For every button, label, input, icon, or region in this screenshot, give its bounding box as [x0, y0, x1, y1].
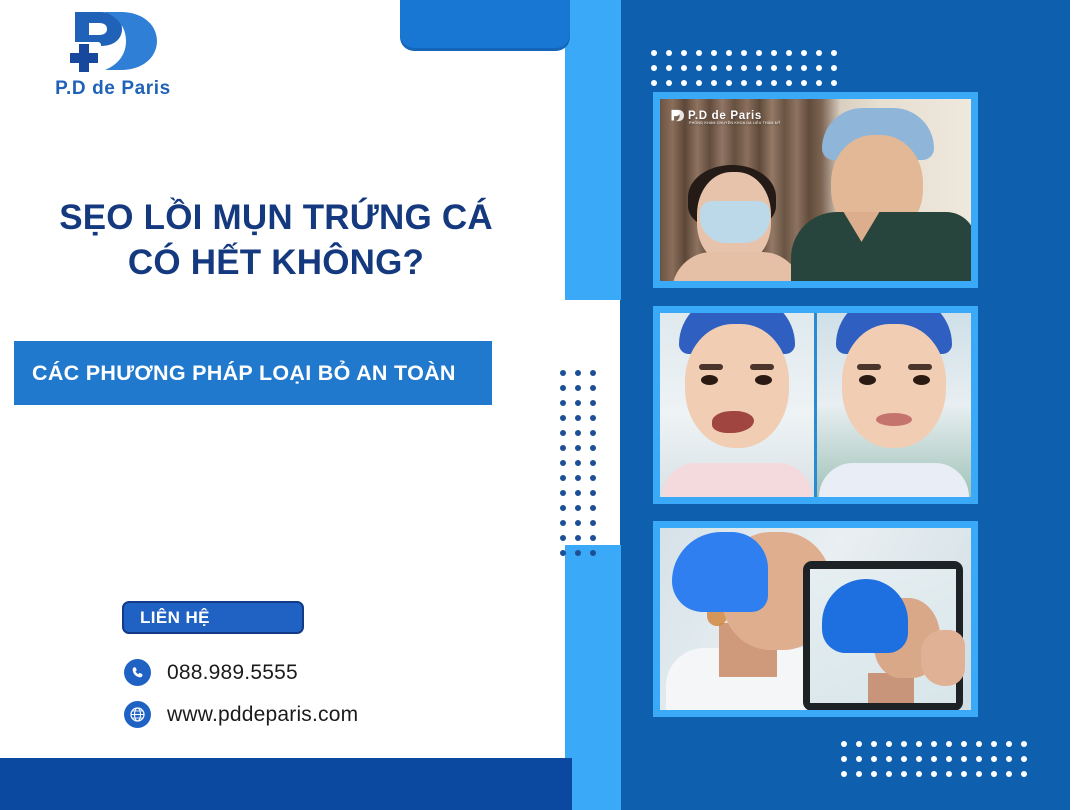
dot [590, 475, 596, 481]
photo1-doctor-scrubs [791, 212, 971, 281]
dot [856, 741, 862, 747]
dot [575, 520, 581, 526]
photo2-after-brow-right [908, 364, 932, 370]
dot [946, 741, 952, 747]
dot [931, 756, 937, 762]
dot [961, 741, 967, 747]
dot [801, 50, 807, 56]
dot [1006, 756, 1012, 762]
dot [726, 65, 732, 71]
dot [575, 370, 581, 376]
globe-icon [124, 701, 151, 728]
dot [886, 771, 892, 777]
photo2-before-lip-lesion [712, 411, 754, 433]
photo-card-before-after-face[interactable] [653, 306, 978, 504]
dot [590, 370, 596, 376]
page-title-line-2: CÓ HẾT KHÔNG? [14, 241, 538, 286]
dot [886, 756, 892, 762]
dot [916, 741, 922, 747]
photo-image-consultation-tablet [660, 528, 971, 710]
photo2-after-eye-right [913, 375, 930, 385]
phone-icon [124, 659, 151, 686]
dot [801, 65, 807, 71]
photo1-watermark: P.D de Paris PHÒNG KHÁM CHUYÊN KHOA DA L… [669, 108, 762, 123]
dot [560, 445, 566, 451]
photo1-watermark-subtext: PHÒNG KHÁM CHUYÊN KHOA DA LIỄU THẨM MỸ [689, 121, 781, 125]
footer-bar [0, 758, 572, 810]
brand-logo-text: P.D de Paris [18, 78, 208, 100]
dot [771, 80, 777, 86]
dot [575, 475, 581, 481]
dot [560, 475, 566, 481]
dot [590, 520, 596, 526]
dot [841, 756, 847, 762]
rounded-blue-accent [400, 0, 570, 48]
dot [560, 415, 566, 421]
pd-monogram-icon [18, 6, 208, 80]
dot [575, 505, 581, 511]
dot [1006, 771, 1012, 777]
dot [681, 65, 687, 71]
dot [946, 771, 952, 777]
photo1-watermark-text: P.D de Paris [688, 110, 762, 122]
dot [871, 771, 877, 777]
photo2-after-half [817, 313, 971, 497]
dot [575, 445, 581, 451]
dot [651, 80, 657, 86]
dot [696, 80, 702, 86]
dot [916, 771, 922, 777]
dot [1021, 756, 1027, 762]
dot [841, 771, 847, 777]
dot [575, 460, 581, 466]
page-title-line-1: SẸO LỒI MỤN TRỨNG CÁ [14, 196, 538, 241]
photo2-after-eye-left [859, 375, 876, 385]
dot [651, 50, 657, 56]
dot [575, 415, 581, 421]
dot [681, 80, 687, 86]
dot [590, 535, 596, 541]
dot [946, 756, 952, 762]
page-title: SẸO LỒI MỤN TRỨNG CÁ CÓ HẾT KHÔNG? [14, 196, 538, 286]
dot [901, 771, 907, 777]
dot [786, 50, 792, 56]
photo-card-doctor-and-patient[interactable]: P.D de Paris PHÒNG KHÁM CHUYÊN KHOA DA L… [653, 92, 978, 288]
dot [560, 550, 566, 556]
dot [856, 771, 862, 777]
subtitle-text: CÁC PHƯƠNG PHÁP LOẠI BỎ AN TOÀN [32, 361, 456, 386]
dot [560, 370, 566, 376]
dot [666, 65, 672, 71]
dot [991, 771, 997, 777]
dot [786, 80, 792, 86]
dot [560, 505, 566, 511]
dot [816, 50, 822, 56]
dot [560, 490, 566, 496]
photo-image-doctor-and-patient: P.D de Paris PHÒNG KHÁM CHUYÊN KHOA DA L… [660, 99, 971, 281]
dot [816, 80, 822, 86]
dot [831, 50, 837, 56]
dot [696, 50, 702, 56]
photo2-before-brow-right [750, 364, 774, 370]
dot [575, 550, 581, 556]
dot [726, 80, 732, 86]
dot [590, 385, 596, 391]
dot [871, 756, 877, 762]
dot [726, 50, 732, 56]
photo2-before-brow-left [699, 364, 723, 370]
dot [1006, 741, 1012, 747]
light-blue-band-bottom [565, 545, 621, 810]
dot [711, 80, 717, 86]
dot [590, 490, 596, 496]
photo3-screen-surgical-cap [822, 579, 908, 653]
dot [666, 80, 672, 86]
light-blue-band-top [565, 0, 621, 300]
dot [886, 741, 892, 747]
photo-card-consultation-tablet[interactable] [653, 521, 978, 717]
dot [901, 756, 907, 762]
dot [841, 741, 847, 747]
dot [560, 400, 566, 406]
dot [681, 50, 687, 56]
brand-logo: P.D de Paris [18, 6, 208, 100]
dot [831, 80, 837, 86]
dot [901, 741, 907, 747]
dot [575, 400, 581, 406]
dot [651, 65, 657, 71]
dot [575, 385, 581, 391]
photo2-after-face [842, 324, 946, 448]
photo2-after-lips [876, 413, 912, 426]
dot [575, 535, 581, 541]
dot [856, 756, 862, 762]
dot [1021, 741, 1027, 747]
subtitle-banner: CÁC PHƯƠNG PHÁP LOẠI BỎ AN TOÀN [14, 341, 492, 405]
dot [711, 65, 717, 71]
dot [560, 520, 566, 526]
dot [575, 490, 581, 496]
dot [931, 771, 937, 777]
dot-grid-top-right [651, 50, 837, 86]
photo-image-before-after-face [660, 313, 971, 497]
dot [756, 65, 762, 71]
dot [831, 65, 837, 71]
dot [560, 460, 566, 466]
contact-button-label: LIÊN HỆ [140, 608, 210, 628]
dot [801, 80, 807, 86]
contact-phone-number: 088.989.5555 [167, 661, 298, 685]
dot-grid-left-column [560, 370, 596, 556]
dot [590, 460, 596, 466]
photo1-patient-face-mask [700, 201, 770, 243]
dot [1021, 771, 1027, 777]
contact-phone-row[interactable]: 088.989.5555 [124, 659, 298, 686]
dot [756, 50, 762, 56]
dot [976, 771, 982, 777]
photo3-hand [921, 630, 965, 686]
photo2-before-eye-right [755, 375, 772, 385]
dot [590, 445, 596, 451]
dot [575, 430, 581, 436]
right-white-edge [1070, 0, 1083, 810]
dot [916, 756, 922, 762]
photo2-after-shirt [819, 463, 969, 497]
dot [816, 65, 822, 71]
dot [696, 65, 702, 71]
photo2-after-brow-left [857, 364, 881, 370]
dot [976, 756, 982, 762]
dot [771, 65, 777, 71]
dot [590, 505, 596, 511]
dot [590, 415, 596, 421]
dot [741, 50, 747, 56]
dot [711, 50, 717, 56]
dot [590, 550, 596, 556]
promo-banner: P.D de Paris SẸO LỒI MỤN TRỨNG CÁ CÓ HẾT… [0, 0, 1083, 810]
dot [666, 50, 672, 56]
dot [560, 535, 566, 541]
dot [991, 756, 997, 762]
dot [976, 741, 982, 747]
contact-website-url: www.pddeparis.com [167, 703, 358, 727]
dot [741, 65, 747, 71]
dot [871, 741, 877, 747]
dot [961, 756, 967, 762]
photo2-before-half [660, 313, 814, 497]
dot [961, 771, 967, 777]
contact-website-row[interactable]: www.pddeparis.com [124, 701, 358, 728]
dot [590, 430, 596, 436]
dot [756, 80, 762, 86]
photo2-before-face [685, 324, 789, 448]
contact-button[interactable]: LIÊN HỆ [122, 601, 304, 634]
dot-grid-bottom-right [841, 741, 1027, 777]
photo2-before-eye-left [701, 375, 718, 385]
dot [590, 400, 596, 406]
photo2-before-shirt [662, 463, 812, 497]
dot [991, 741, 997, 747]
dot [931, 741, 937, 747]
dot [771, 50, 777, 56]
dot [560, 385, 566, 391]
dot [786, 65, 792, 71]
dot [560, 430, 566, 436]
dot [741, 80, 747, 86]
